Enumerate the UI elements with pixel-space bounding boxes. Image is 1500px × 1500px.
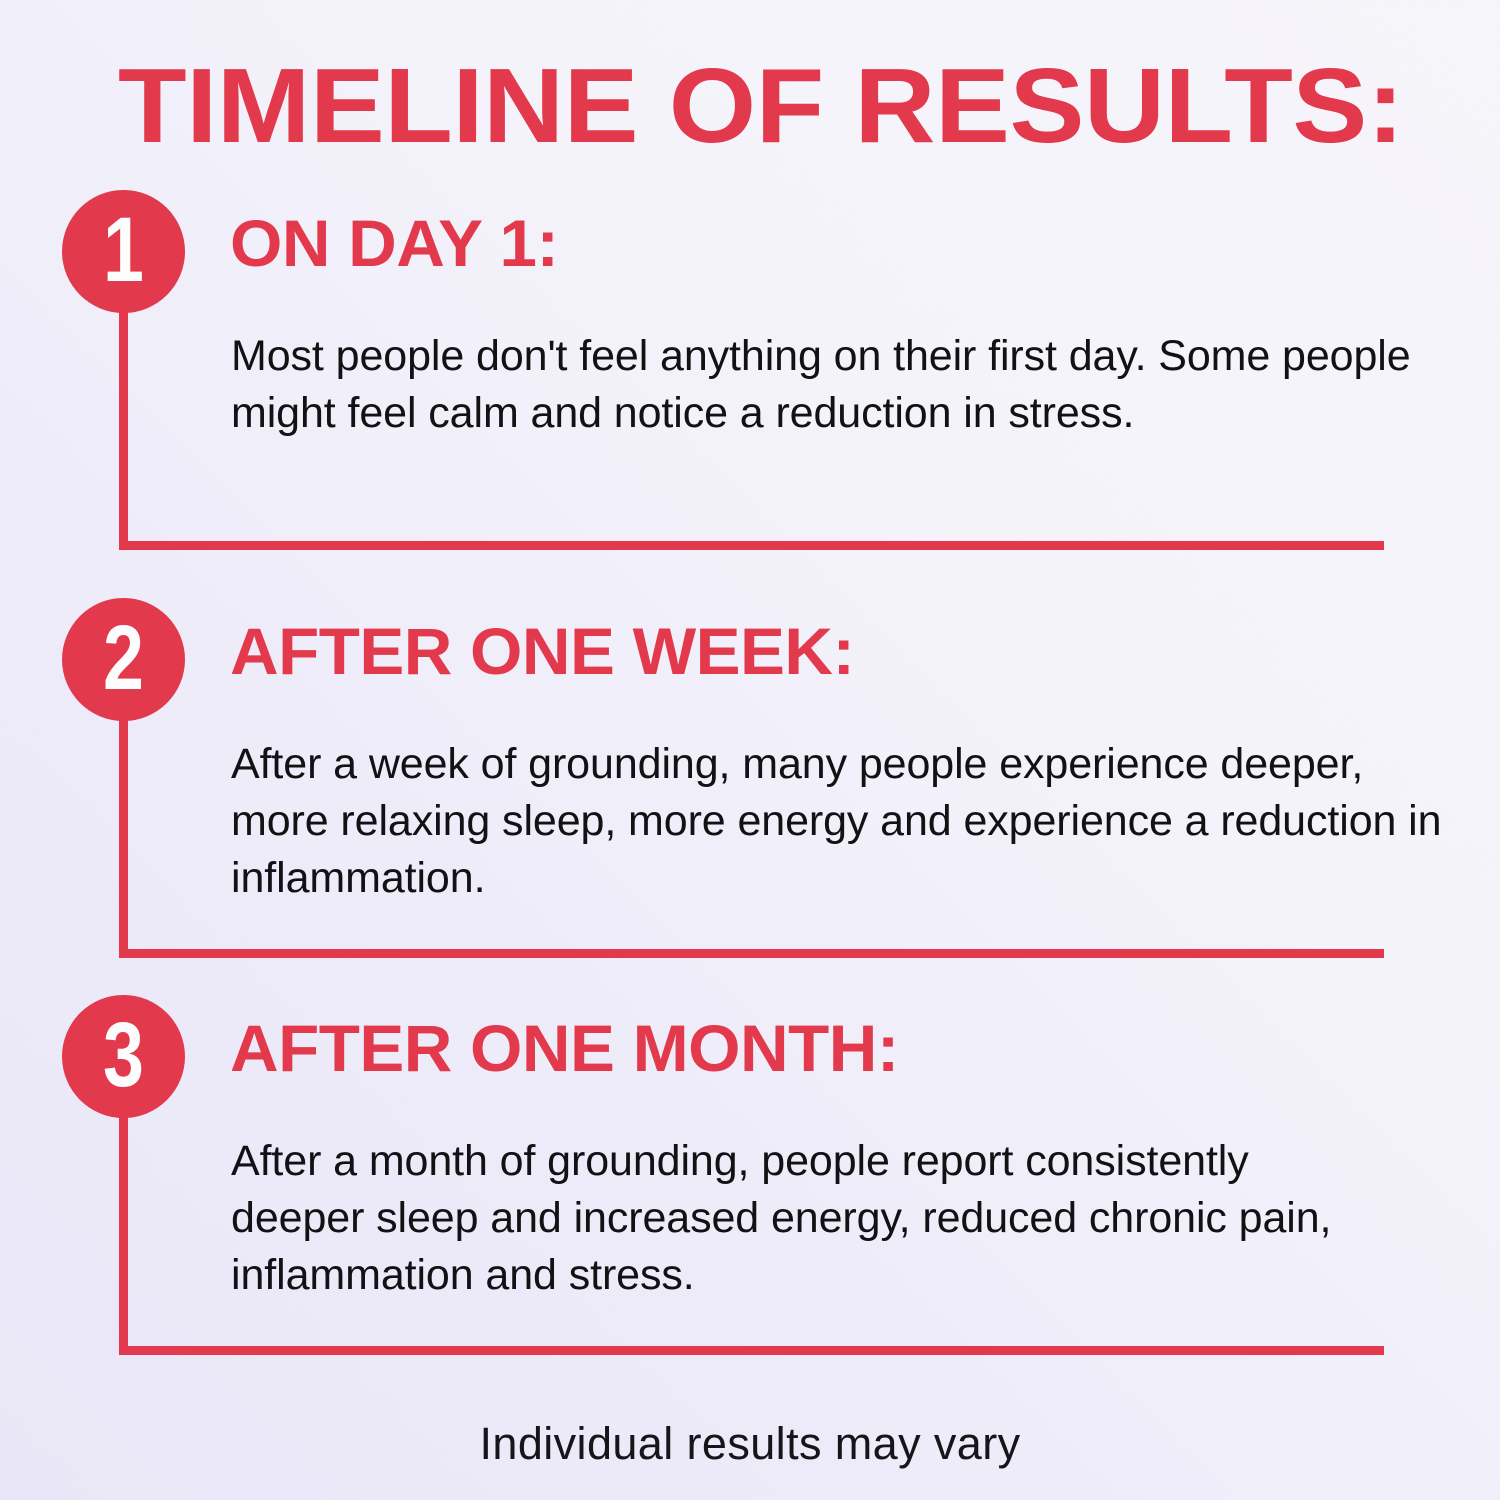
step-heading: ON DAY 1:	[230, 208, 558, 278]
step-body-text: After a month of grounding, people repor…	[231, 1133, 1391, 1304]
page-title: TIMELINE OF RESULTS:	[118, 52, 1500, 160]
step-number-badge: 2	[62, 598, 185, 721]
step-heading: AFTER ONE MONTH:	[230, 1013, 899, 1083]
step-heading: AFTER ONE WEEK:	[230, 616, 854, 686]
step-body-text: Most people don't feel anything on their…	[231, 328, 1431, 442]
connector-horizontal-rule	[119, 1346, 1384, 1355]
disclaimer-text: Individual results may vary	[0, 1418, 1500, 1470]
step-number-badge: 3	[62, 995, 185, 1118]
step-number-label: 3	[74, 995, 172, 1118]
step-number-label: 1	[74, 190, 172, 313]
connector-horizontal-rule	[119, 949, 1384, 958]
step-number-badge: 1	[62, 190, 185, 313]
step-number-label: 2	[74, 598, 172, 721]
step-body-text: After a week of grounding, many people e…	[231, 736, 1446, 907]
connector-horizontal-rule	[119, 541, 1384, 550]
infographic-canvas: TIMELINE OF RESULTS: 1 ON DAY 1: Most pe…	[0, 0, 1500, 1500]
